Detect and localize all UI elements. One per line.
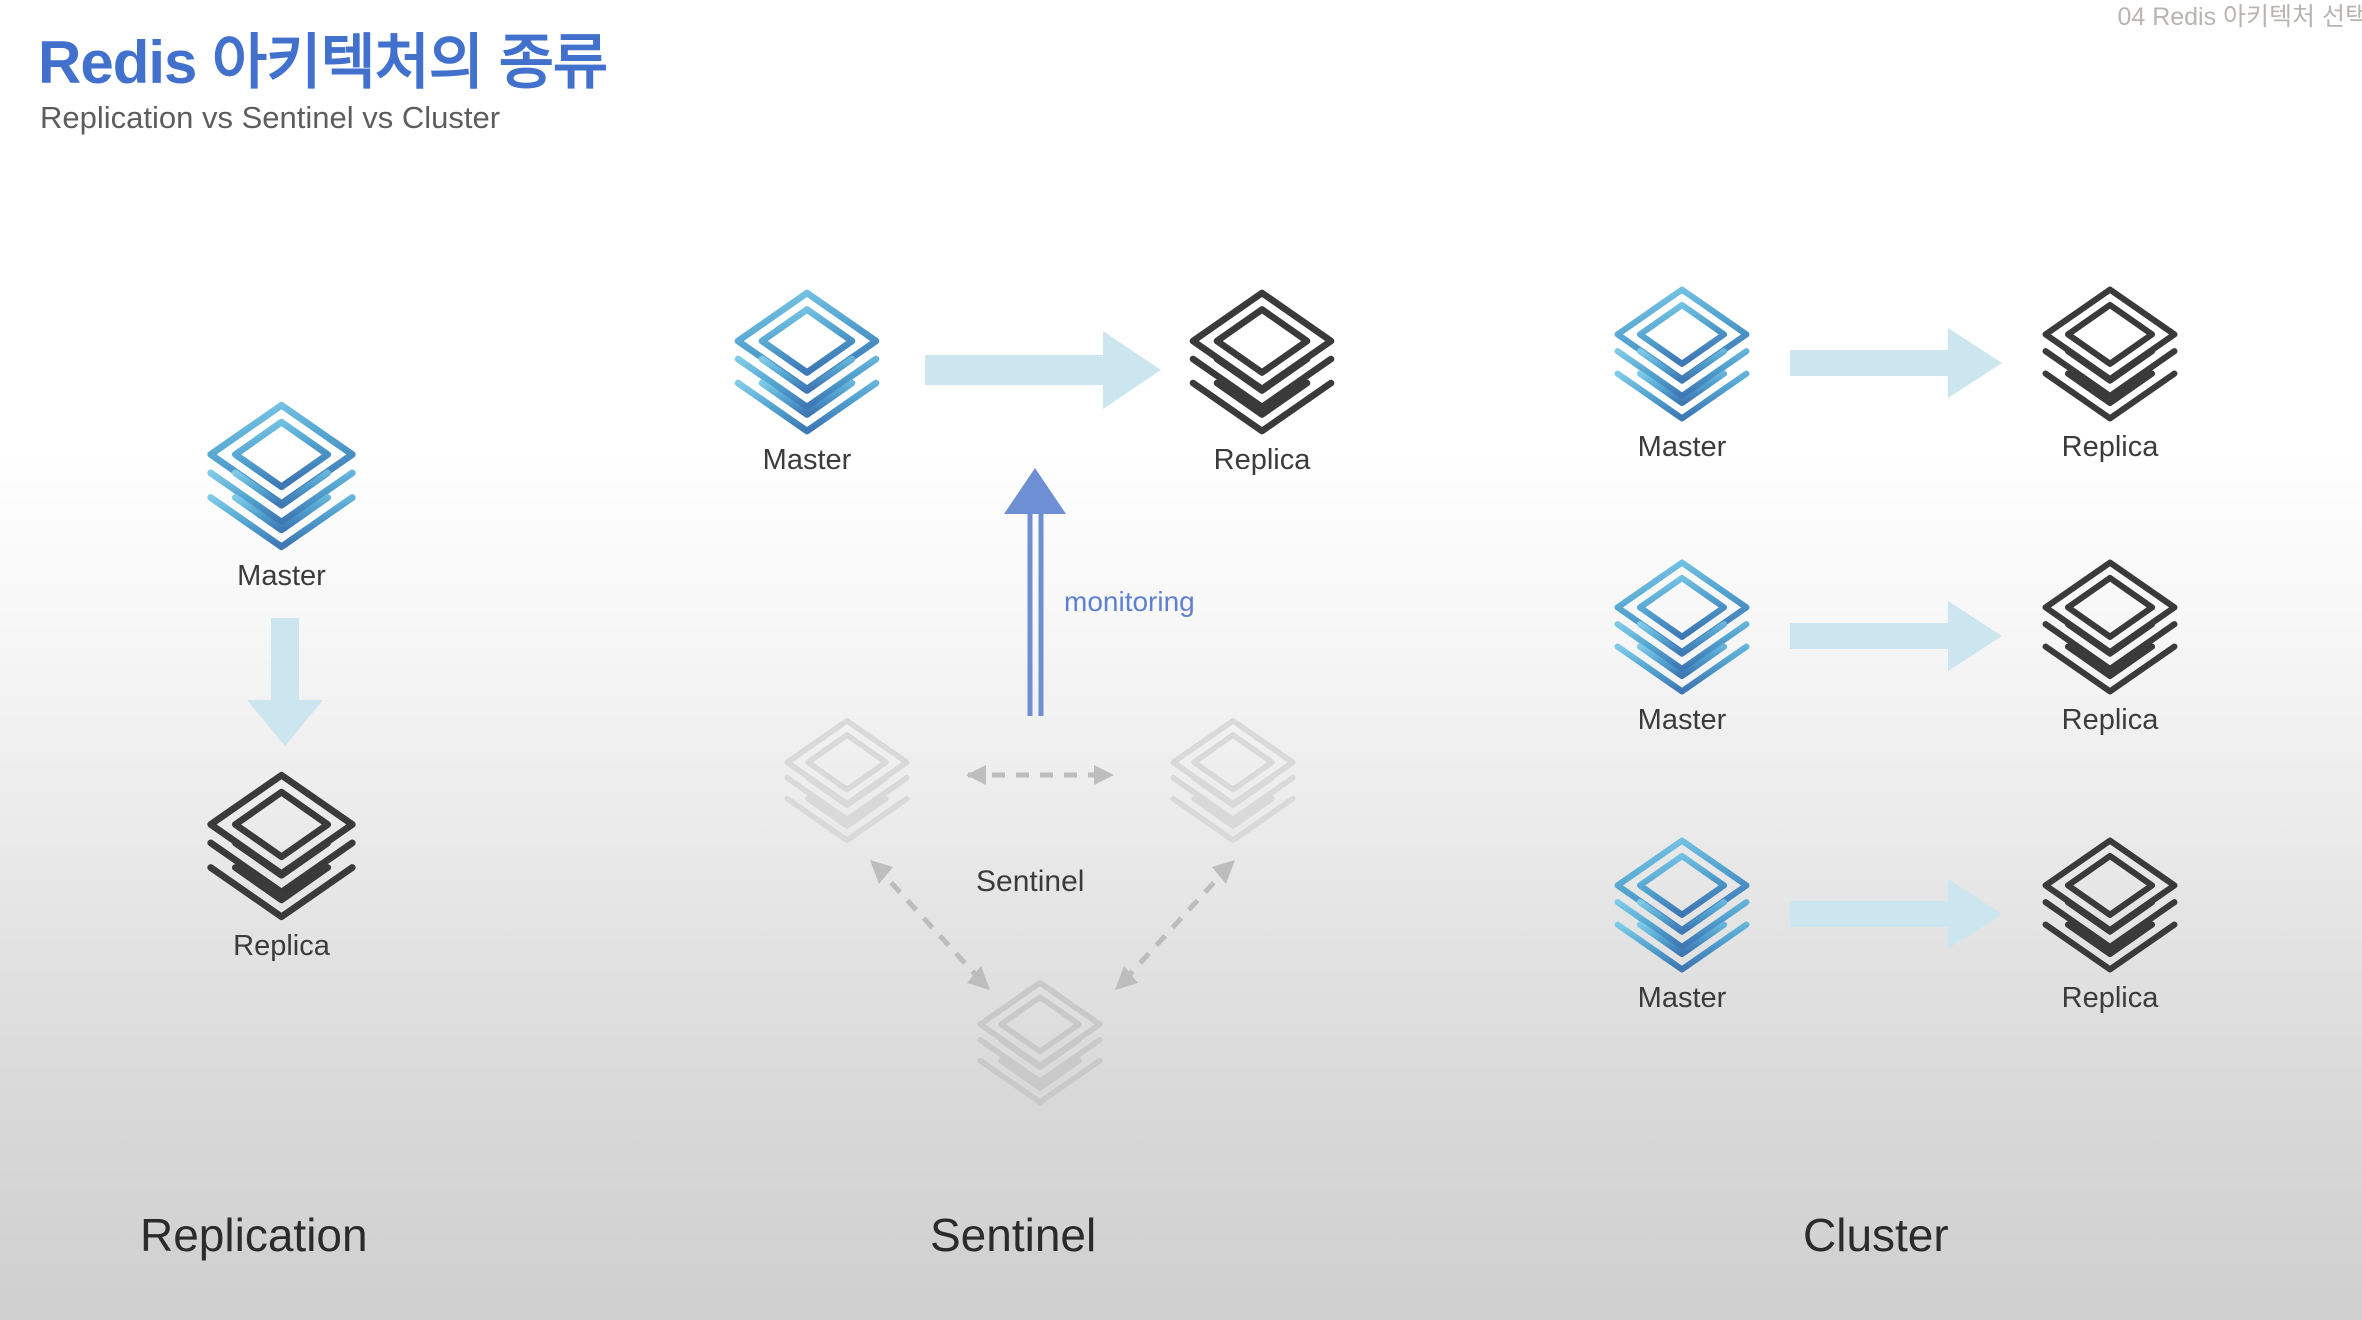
sentinel-replica-node[interactable]: Replica — [1187, 284, 1337, 477]
section-title-cluster: Cluster — [1803, 1208, 1949, 1262]
sentinel-node-left[interactable] — [782, 713, 912, 848]
cluster-master-node[interactable]: Master — [1612, 281, 1752, 464]
node-caption: Replica — [2040, 982, 2180, 1015]
sentinel-master-node[interactable]: Master — [732, 284, 882, 477]
layers-stack-icon — [2040, 832, 2180, 978]
layers-stack-icon — [204, 396, 359, 556]
page-subtitle: Replication vs Sentinel vs Cluster — [40, 100, 500, 136]
layers-stack-icon — [2040, 281, 2180, 427]
layers-stack-icon — [204, 766, 359, 926]
cluster-replica-node[interactable]: Replica — [2040, 832, 2180, 1015]
block-arrow-right-icon — [1790, 595, 2006, 677]
sentinel-link-top — [940, 752, 1140, 798]
block-arrow-right-icon — [1790, 873, 2006, 955]
node-caption: Master — [1612, 704, 1752, 737]
layers-stack-icon — [2040, 554, 2180, 700]
layers-stack-icon — [1612, 832, 1752, 978]
node-caption: Master — [1612, 982, 1752, 1015]
cluster-master-node[interactable]: Master — [1612, 554, 1752, 737]
section-title-replication: Replication — [140, 1208, 368, 1262]
sentinel-group-label: Sentinel — [976, 865, 1084, 899]
layers-stack-icon — [782, 713, 912, 848]
layers-stack-icon — [732, 284, 882, 440]
block-arrow-down-icon — [240, 618, 330, 748]
node-caption: Master — [204, 560, 359, 593]
cluster-master-node[interactable]: Master — [1612, 832, 1752, 1015]
replication-replica-node[interactable]: Replica — [204, 766, 359, 963]
node-caption: Replica — [2040, 704, 2180, 737]
node-caption: Replica — [204, 930, 359, 963]
node-caption: Replica — [1187, 444, 1337, 477]
node-caption: Replica — [2040, 431, 2180, 464]
slide-canvas: Redis 아키텍처의 종류 Replication vs Sentinel v… — [0, 0, 2362, 1320]
section-title-sentinel: Sentinel — [930, 1208, 1096, 1262]
page-title: Redis 아키텍처의 종류 — [38, 14, 607, 101]
cluster-replica-node[interactable]: Replica — [2040, 554, 2180, 737]
replication-master-node[interactable]: Master — [204, 396, 359, 593]
layers-stack-icon — [1187, 284, 1337, 440]
block-arrow-right-icon — [925, 325, 1165, 415]
layers-stack-icon — [1612, 554, 1752, 700]
monitoring-label: monitoring — [1064, 586, 1195, 618]
chapter-label: 04 Redis 아키텍처 선택 — [2117, 0, 2362, 33]
sentinel-node-right[interactable] — [1168, 713, 1298, 848]
sentinel-link-right — [1090, 845, 1260, 1005]
cluster-replica-node[interactable]: Replica — [2040, 281, 2180, 464]
node-caption: Master — [732, 444, 882, 477]
block-arrow-right-icon — [1790, 322, 2006, 404]
layers-stack-icon — [1168, 713, 1298, 848]
node-caption: Master — [1612, 431, 1752, 464]
monitoring-arrow-up-icon — [1000, 468, 1070, 718]
layers-stack-icon — [1612, 281, 1752, 427]
